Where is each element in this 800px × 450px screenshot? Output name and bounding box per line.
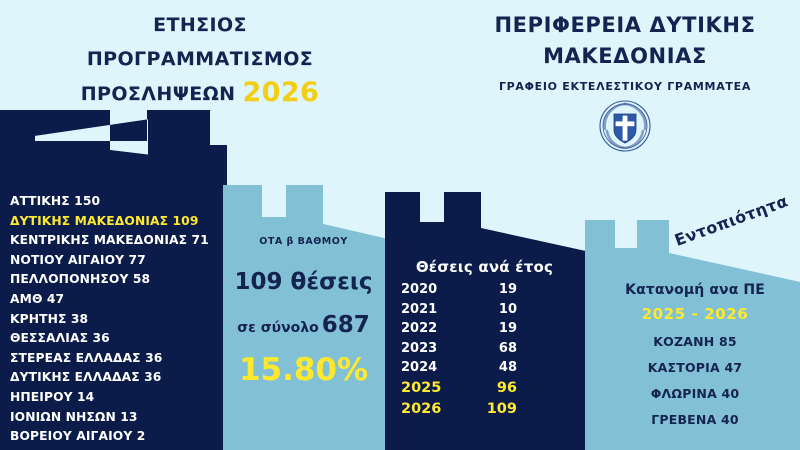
organization-subtitle: ΓΡΑΦΕΙΟ ΕΚΤΕΛΕΣΤΙΚΟΥ ΓΡΑΜΜΑΤΕΑ [460, 80, 790, 93]
title-line-3: ΠΡΟΣΛΗΨΕΩΝ2026 [0, 76, 400, 111]
region-label: ΚΕΝΤΡΙΚΗΣ ΜΑΚΕΔΟΝΙΑΣ [10, 233, 192, 247]
title-line-2: ΠΡΟΓΡΑΜΜΑΤΙΣΜΟΣ [0, 42, 400, 76]
list-item: ΔΥΤΙΚΗΣ ΕΛΛΑΔΑΣ 36 [10, 368, 225, 388]
list-item: ΦΛΩΡΙΝΑ 40 [595, 386, 795, 401]
infographic-poster: ΕΤΗΣΙΟΣ ΠΡΟΓΡΑΜΜΑΤΙΣΜΟΣ ΠΡΟΣΛΗΨΕΩΝ2026 Π… [0, 0, 800, 450]
year-cell: 2026 [401, 399, 467, 420]
pe-value: 40 [722, 386, 740, 401]
ota-total-row: σε σύνολο687 [226, 312, 381, 338]
region-label: ΙΟΝΙΩΝ ΝΗΣΩΝ [10, 410, 120, 424]
main-title-block: ΕΤΗΣΙΟΣ ΠΡΟΓΡΑΜΜΑΤΙΣΜΟΣ ΠΡΟΣΛΗΨΕΩΝ2026 [0, 8, 400, 111]
value-cell: 19 [467, 319, 517, 339]
navy-tower-1 [148, 110, 210, 162]
pe-label: ΚΟΖΑΝΗ [653, 334, 719, 349]
ota-positions-value: 109 θέσεις [226, 269, 381, 295]
region-value: 36 [144, 370, 161, 384]
ota-total-value: 687 [322, 312, 370, 338]
table-row: 2020 19 [392, 280, 577, 300]
list-item: ΚΕΝΤΡΙΚΗΣ ΜΑΚΕΔΟΝΙΑΣ 71 [10, 231, 225, 251]
region-label: ΗΠΕΙΡΟΥ [10, 390, 77, 404]
region-value: 150 [74, 194, 100, 208]
region-label: ΒΟΡΕΙΟΥ ΑΙΓΑΙΟΥ [10, 429, 137, 443]
year-cell: 2022 [401, 319, 467, 339]
pe-value: 47 [724, 360, 742, 375]
pe-label: ΚΑΣΤΟΡΙΑ [648, 360, 725, 375]
list-item: ΒΟΡΕΙΟΥ ΑΙΓΑΙΟΥ 2 [10, 427, 225, 447]
table-row: 2023 68 [392, 339, 577, 359]
year-cell: 2024 [401, 358, 467, 378]
ota-total-label: σε σύνολο [237, 320, 319, 336]
emblem-container [460, 99, 790, 153]
list-item: ΓΡΕΒΕΝΑ 40 [595, 412, 795, 427]
ota-percentage-value: 15.80% [226, 352, 381, 388]
per-year-table-panel: Θέσεις ανά έτος 2020 19 2021 10 2022 19 … [392, 258, 577, 420]
table-row: 2022 19 [392, 319, 577, 339]
list-item: ΠΕΛΛΟΠΟΝΗΣΟΥ 58 [10, 270, 225, 290]
per-year-table-title: Θέσεις ανά έτος [392, 258, 577, 276]
value-cell: 68 [467, 339, 517, 359]
table-row: 2025 96 [392, 378, 577, 399]
region-label: ΠΕΛΛΟΠΟΝΗΣΟΥ [10, 272, 133, 286]
ota-panel-title: ΟΤΑ β ΒΑΘΜΟΥ [226, 236, 381, 247]
region-value: 36 [92, 331, 109, 345]
lightblue-tower-2 [287, 185, 323, 225]
list-item: ΝΟΤΙΟΥ ΑΙΓΑΙΟΥ 77 [10, 251, 225, 271]
table-row: 2021 10 [392, 300, 577, 320]
region-label: ΑΜΘ [10, 292, 47, 306]
ota-summary-panel: ΟΤΑ β ΒΑΘΜΟΥ 109 θέσεις σε σύνολο687 15.… [226, 236, 381, 388]
organization-name-line-2: ΜΑΚΕΔΟΝΙΑΣ [460, 41, 790, 72]
region-value: 13 [120, 410, 137, 424]
list-item: ΔΥΤΙΚΗΣ ΜΑΚΕΔΟΝΙΑΣ 109 [10, 212, 225, 232]
pe-label: ΦΛΩΡΙΝΑ [651, 386, 722, 401]
year-cell: 2020 [401, 280, 467, 300]
per-pe-panel: Κατανομή ανα ΠΕ 2025 - 2026 ΚΟΖΑΝΗ 85 ΚΑ… [595, 282, 795, 427]
region-value: 47 [47, 292, 64, 306]
list-item: ΚΟΖΑΝΗ 85 [595, 334, 795, 349]
region-value: 77 [129, 253, 146, 267]
value-cell: 96 [467, 378, 517, 399]
list-item: ΘΕΣΣΑΛΙΑΣ 36 [10, 329, 225, 349]
region-label: ΔΥΤΙΚΗΣ ΕΛΛΑΔΑΣ [10, 370, 144, 384]
region-value: 109 [173, 214, 199, 228]
pe-value: 85 [719, 334, 737, 349]
organization-block: ΠΕΡΙΦΕΡΕΙΑ ΔΥΤΙΚΗΣ ΜΑΚΕΔΟΝΙΑΣ ΓΡΑΦΕΙΟ ΕΚ… [460, 10, 790, 153]
value-cell: 10 [467, 300, 517, 320]
navy-block-1-shape [0, 110, 212, 143]
title-line-3-text: ΠΡΟΣΛΗΨΕΩΝ [81, 83, 236, 105]
list-item: ΑΜΘ 47 [10, 290, 225, 310]
locality-ribbon-label: Εντοπιότητα [672, 191, 790, 250]
region-label: ΣΤΕΡΕΑΣ ΕΛΛΑΔΑΣ [10, 351, 145, 365]
region-value: 38 [71, 312, 88, 326]
region-label: ΚΡΗΤΗΣ [10, 312, 71, 326]
region-value: 71 [192, 233, 209, 247]
region-value: 36 [145, 351, 162, 365]
list-item: ΑΤΤΙΚΗΣ 150 [10, 192, 225, 212]
hellenic-republic-emblem-icon [598, 99, 652, 153]
pe-value: 40 [721, 412, 739, 427]
region-label: ΔΥΤΙΚΗΣ ΜΑΚΕΔΟΝΙΑΣ [10, 214, 173, 228]
list-item: ΚΡΗΤΗΣ 38 [10, 310, 225, 330]
pe-label: ΓΡΕΒΕΝΑ [651, 412, 721, 427]
lightblue-tower-4 [638, 220, 669, 260]
year-cell: 2023 [401, 339, 467, 359]
per-pe-years: 2025 - 2026 [595, 305, 795, 323]
value-cell: 19 [467, 280, 517, 300]
region-value: 58 [133, 272, 150, 286]
list-item: ΣΤΕΡΕΑΣ ΕΛΛΑΔΑΣ 36 [10, 349, 225, 369]
table-row: 2026 109 [392, 399, 577, 420]
value-cell: 48 [467, 358, 517, 378]
year-cell: 2025 [401, 378, 467, 399]
list-item: ΚΑΣΤΟΡΙΑ 47 [595, 360, 795, 375]
table-row: 2024 48 [392, 358, 577, 378]
title-year: 2026 [243, 77, 320, 108]
region-label: ΝΟΤΙΟΥ ΑΙΓΑΙΟΥ [10, 253, 129, 267]
organization-name-line-1: ΠΕΡΙΦΕΡΕΙΑ ΔΥΤΙΚΗΣ [460, 10, 790, 41]
value-cell: 109 [467, 399, 517, 420]
list-item: ΗΠΕΙΡΟΥ 14 [10, 388, 225, 408]
year-cell: 2021 [401, 300, 467, 320]
region-value: 14 [77, 390, 94, 404]
title-line-1: ΕΤΗΣΙΟΣ [0, 8, 400, 42]
per-pe-title: Κατανομή ανα ΠΕ [595, 282, 795, 298]
region-value: 2 [137, 429, 146, 443]
list-item: ΙΟΝΙΩΝ ΝΗΣΩΝ 13 [10, 408, 225, 428]
regions-list-panel: ΑΤΤΙΚΗΣ 150 ΔΥΤΙΚΗΣ ΜΑΚΕΔΟΝΙΑΣ 109 ΚΕΝΤΡ… [10, 192, 225, 447]
navy-tower-3 [444, 192, 481, 234]
region-label: ΑΤΤΙΚΗΣ [10, 194, 74, 208]
region-label: ΘΕΣΣΑΛΙΑΣ [10, 331, 92, 345]
